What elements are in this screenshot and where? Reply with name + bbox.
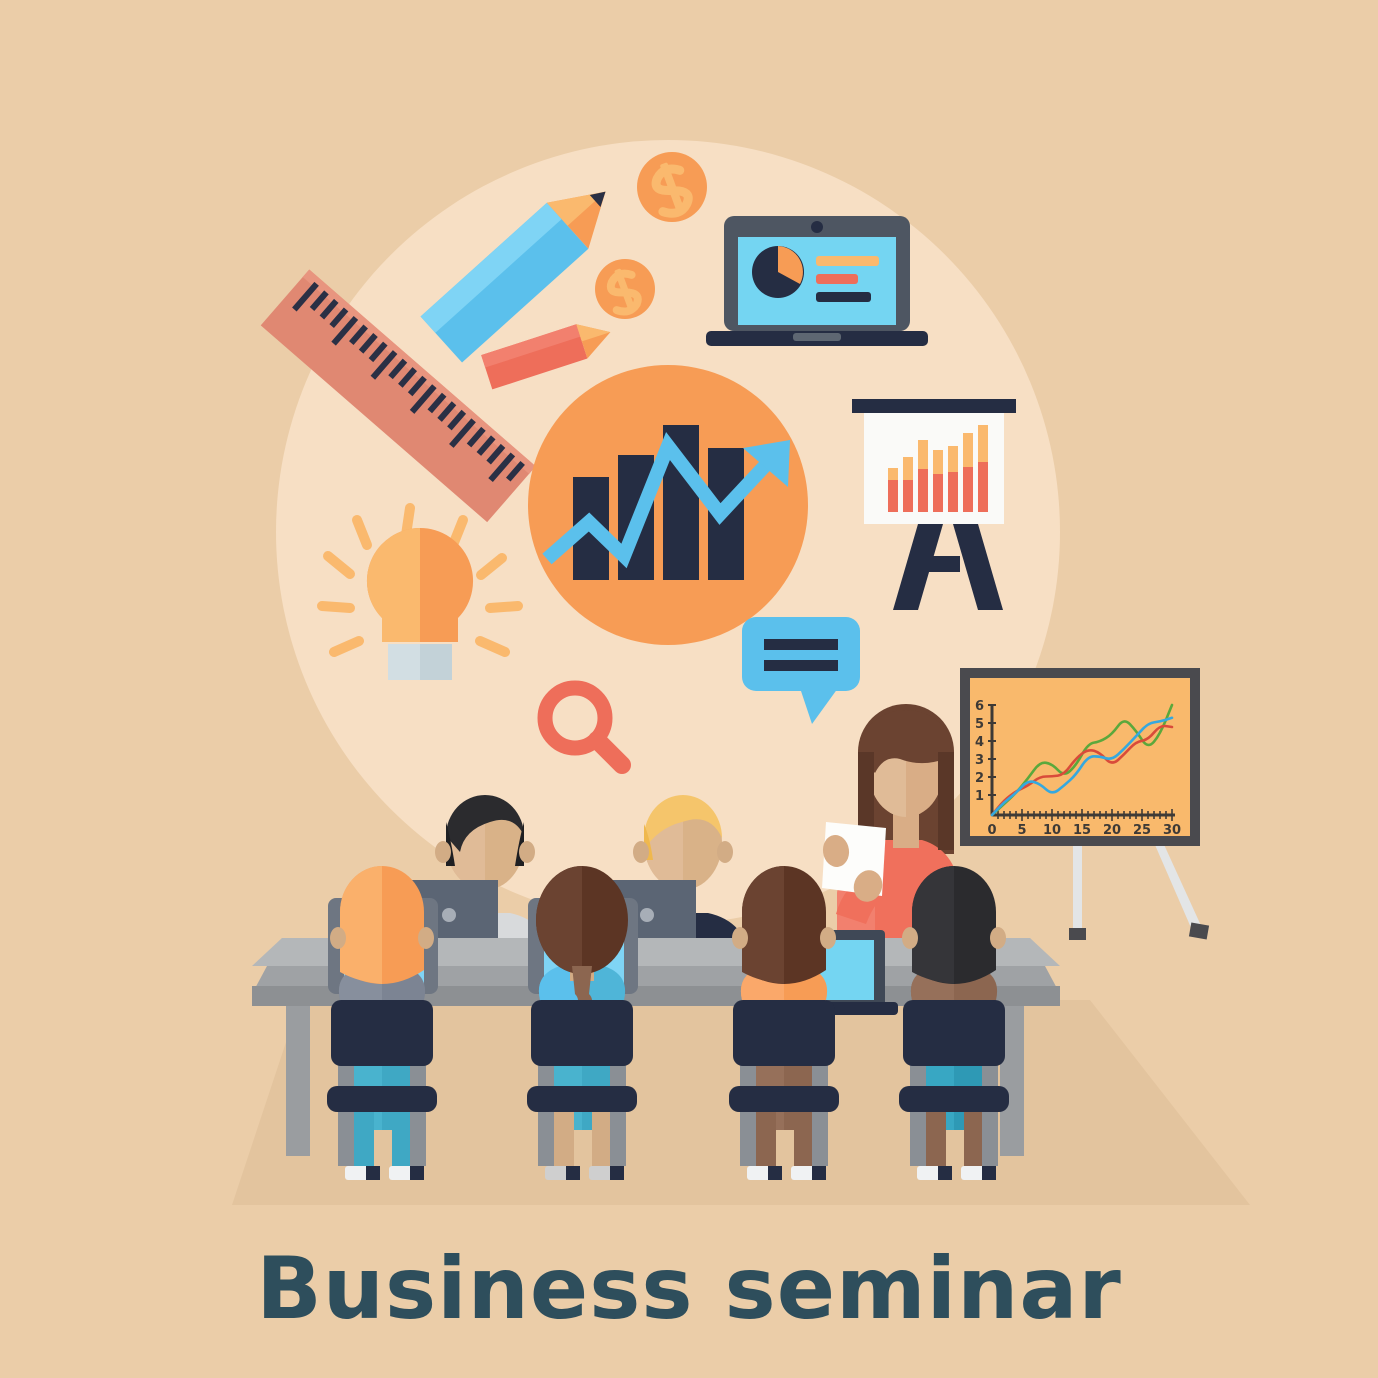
dollar-coin-icon	[637, 152, 707, 222]
dollar-coin-icon-small	[595, 259, 655, 319]
y-tick-2: 2	[975, 771, 984, 786]
y-tick-1: 1	[975, 789, 984, 804]
y-tick-4: 4	[975, 735, 984, 750]
illustration-canvas: 6 5 4 3 2 1 0 5 10 15 20 25 30	[0, 0, 1378, 1378]
y-tick-5: 5	[975, 717, 984, 732]
x-tick-20: 20	[1103, 823, 1121, 838]
laptop-presentation-icon	[706, 216, 928, 346]
x-tick-30: 30	[1163, 823, 1181, 838]
x-tick-0: 0	[987, 823, 996, 838]
bar-chart-growth-icon	[528, 365, 808, 645]
x-tick-5: 5	[1017, 823, 1026, 838]
x-tick-25: 25	[1133, 823, 1151, 838]
y-tick-6: 6	[975, 699, 984, 714]
x-tick-15: 15	[1073, 823, 1091, 838]
page-title: Business seminar	[256, 1239, 1122, 1339]
x-tick-10: 10	[1043, 823, 1061, 838]
y-tick-3: 3	[975, 753, 984, 768]
